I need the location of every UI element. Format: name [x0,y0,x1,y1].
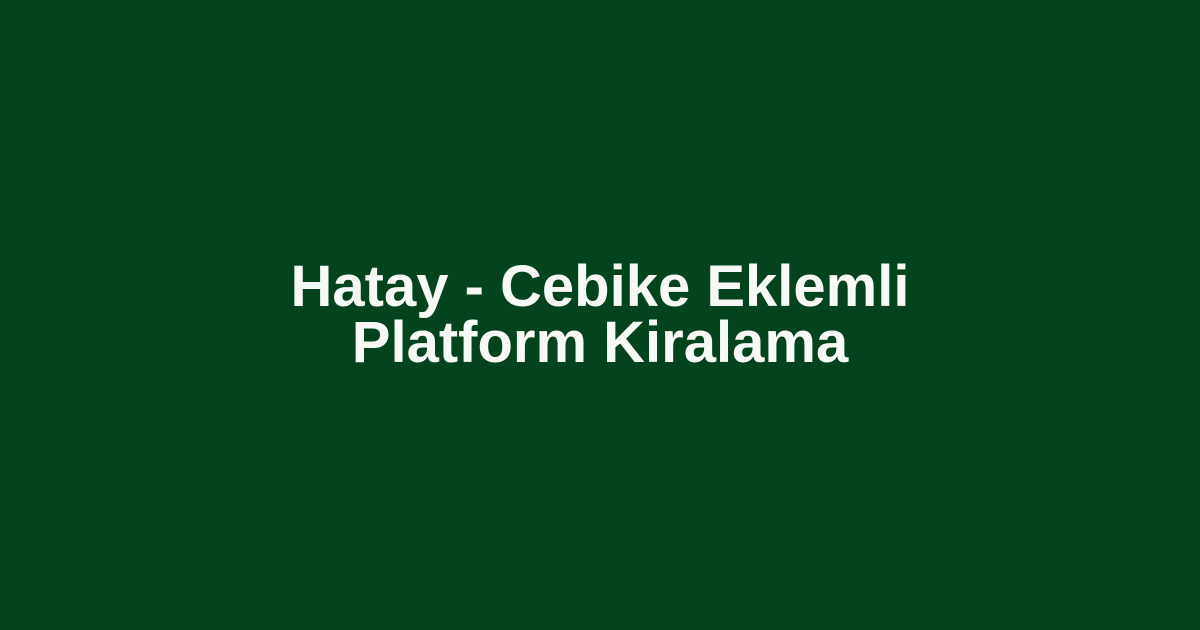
page-title: Hatay - Cebike Eklemli Platform Kiralama [185,259,1015,371]
og-preview-card: Hatay - Cebike Eklemli Platform Kiralama [0,0,1200,630]
card-content-wrapper: Hatay - Cebike Eklemli Platform Kiralama [0,259,1200,371]
